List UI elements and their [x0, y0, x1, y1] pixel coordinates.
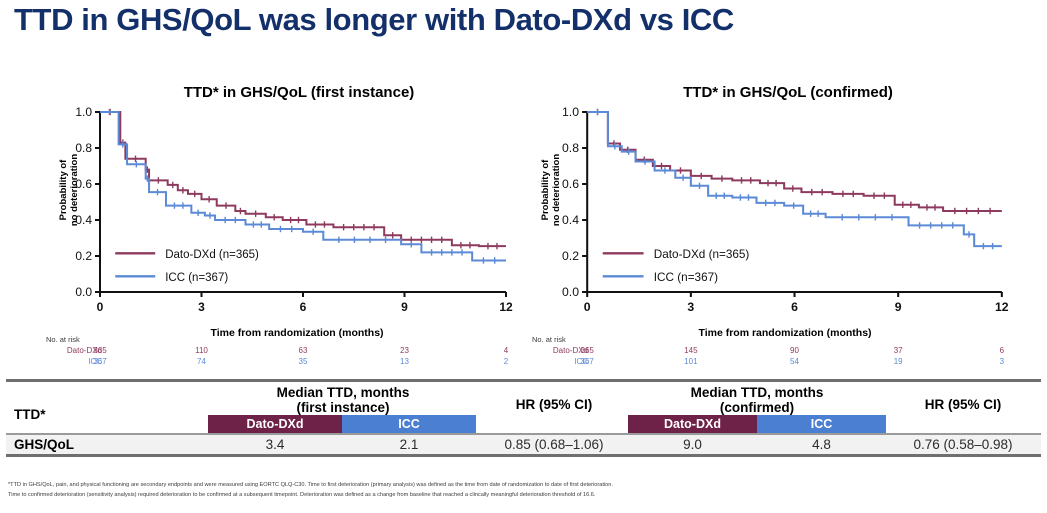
risk-row-icc: ICC 3677435132 [44, 356, 514, 367]
risk-table-title: No. at risk [46, 334, 514, 345]
risk-row-values: 36514590376 [592, 345, 1010, 356]
y-tick-label: 1.0 [75, 106, 92, 119]
x-tick-label: 6 [300, 300, 307, 314]
risk-table-title: No. at risk [532, 334, 1010, 345]
chart-panel-confirmed: TTD* in GHS/QoL (confirmed) Probability … [530, 84, 1010, 374]
cell-first-dato: 3.4 [208, 437, 342, 452]
band-label-icc: ICC [757, 415, 886, 433]
chart-panel-first-instance: TTD* in GHS/QoL (first instance) Probabi… [44, 84, 514, 374]
page-title: TTD in GHS/QoL was longer with Dato-DXd … [14, 2, 1034, 38]
legend-label-1: ICC (n=367) [165, 272, 228, 284]
risk-value: 23 [400, 345, 409, 356]
y-tick-label: 0.0 [75, 285, 92, 299]
y-tick-label: 0.8 [75, 141, 92, 155]
footnote-line-1: *TTD in GHS/QoL, pain, and physical func… [8, 481, 1038, 491]
risk-value: 365 [581, 345, 594, 356]
plot-area: 0.00.20.40.60.81.0036912Dato-DXd (n=365)… [530, 106, 1010, 316]
x-tick-label: 0 [97, 300, 104, 314]
legend-label-0: Dato-DXd (n=365) [165, 249, 259, 261]
risk-table: No. at risk Dato-DXd 36514590376 ICC 367… [530, 334, 1010, 367]
y-tick-label: 0.2 [562, 249, 579, 263]
risk-row-values: 3677435132 [106, 356, 514, 367]
series-line-1 [100, 112, 506, 261]
risk-value: 35 [299, 356, 308, 367]
y-tick-label: 0.4 [75, 213, 92, 227]
risk-value: 63 [299, 345, 308, 356]
risk-table: No. at risk Dato-DXd 36511063234 ICC 367… [44, 334, 514, 367]
group-header-line2: (first instance) [208, 400, 478, 415]
risk-value: 145 [684, 345, 697, 356]
table-rule-top [6, 379, 1041, 382]
x-tick-label: 0 [584, 300, 591, 314]
y-tick-label: 0.4 [562, 213, 579, 227]
cell-conf-dato: 9.0 [628, 437, 757, 452]
km-plot-svg: 0.00.20.40.60.81.0036912Dato-DXd (n=365)… [44, 106, 514, 316]
risk-value: 367 [93, 356, 106, 367]
km-plot-svg: 0.00.20.40.60.81.0036912Dato-DXd (n=365)… [530, 106, 1010, 316]
censor-marks-1 [598, 109, 993, 250]
table-header-hr-first: HR (95% CI) [480, 397, 628, 412]
x-tick-label: 12 [499, 300, 513, 314]
group-header-line1: Median TTD, months [208, 385, 478, 400]
risk-value: 367 [581, 356, 594, 367]
cell-first-icc: 2.1 [342, 437, 476, 452]
y-tick-label: 1.0 [562, 106, 579, 119]
table-rule-bottom [6, 454, 1041, 457]
x-tick-label: 9 [401, 300, 408, 314]
cell-conf-icc: 4.8 [757, 437, 886, 452]
table-header-hr-confirmed: HR (95% CI) [888, 397, 1038, 412]
series-line-1 [587, 112, 1002, 246]
chart-title: TTD* in GHS/QoL (confirmed) [530, 84, 1010, 101]
risk-value: 13 [400, 356, 409, 367]
risk-value: 110 [195, 345, 208, 356]
risk-value: 101 [684, 356, 697, 367]
slide-root: TTD in GHS/QoL was longer with Dato-DXd … [0, 0, 1047, 513]
x-tick-label: 3 [198, 300, 205, 314]
risk-row-dato: Dato-DXd 36511063234 [44, 345, 514, 356]
risk-row-values: 36710154193 [592, 356, 1010, 367]
risk-value: 37 [894, 345, 903, 356]
table-row-label: GHS/QoL [14, 437, 74, 452]
table-group-header-confirmed: Median TTD, months (confirmed) [628, 385, 886, 415]
group-header-line2: (confirmed) [628, 400, 886, 415]
x-tick-label: 9 [895, 300, 902, 314]
band-label-dato: Dato-DXd [628, 415, 757, 433]
band-group-first: Dato-DXd ICC [208, 415, 476, 433]
x-tick-label: 12 [995, 300, 1009, 314]
risk-value: 3 [1000, 356, 1004, 367]
y-tick-label: 0.6 [75, 177, 92, 191]
y-tick-label: 0.2 [75, 249, 92, 263]
risk-row-icc: ICC 36710154193 [530, 356, 1010, 367]
risk-value: 90 [790, 345, 799, 356]
risk-value: 6 [1000, 345, 1004, 356]
footnote: *TTD in GHS/QoL, pain, and physical func… [8, 481, 1038, 500]
risk-value: 74 [197, 356, 206, 367]
risk-value: 365 [93, 345, 106, 356]
table-header-ttd: TTD* [14, 407, 46, 422]
cell-hr-confirmed: 0.76 (0.58–0.98) [888, 437, 1038, 452]
risk-row-values: 36511063234 [106, 345, 514, 356]
results-table: TTD* Median TTD, months (first instance)… [6, 379, 1041, 455]
legend-label-1: ICC (n=367) [654, 271, 718, 284]
risk-value: 4 [504, 345, 508, 356]
series-line-0 [100, 112, 506, 246]
risk-value: 2 [504, 356, 508, 367]
y-tick-label: 0.8 [562, 141, 579, 155]
censor-marks-0 [598, 109, 991, 214]
cell-hr-first: 0.85 (0.68–1.06) [480, 437, 628, 452]
y-tick-label: 0.6 [562, 177, 579, 191]
chart-title: TTD* in GHS/QoL (first instance) [44, 84, 514, 101]
risk-row-dato: Dato-DXd 36514590376 [530, 345, 1010, 356]
x-tick-label: 6 [791, 300, 798, 314]
plot-area: 0.00.20.40.60.81.0036912Dato-DXd (n=365)… [44, 106, 514, 316]
table-group-header-first: Median TTD, months (first instance) [208, 385, 478, 415]
risk-value: 54 [790, 356, 799, 367]
risk-value: 19 [894, 356, 903, 367]
group-header-line1: Median TTD, months [628, 385, 886, 400]
band-group-confirmed: Dato-DXd ICC [628, 415, 886, 433]
band-label-icc: ICC [342, 415, 476, 433]
y-tick-label: 0.0 [562, 285, 579, 299]
footnote-line-2: Time to confirmed deterioration (sensiti… [8, 491, 1038, 501]
band-label-dato: Dato-DXd [208, 415, 342, 433]
legend-label-0: Dato-DXd (n=365) [654, 248, 750, 261]
x-tick-label: 3 [687, 300, 694, 314]
